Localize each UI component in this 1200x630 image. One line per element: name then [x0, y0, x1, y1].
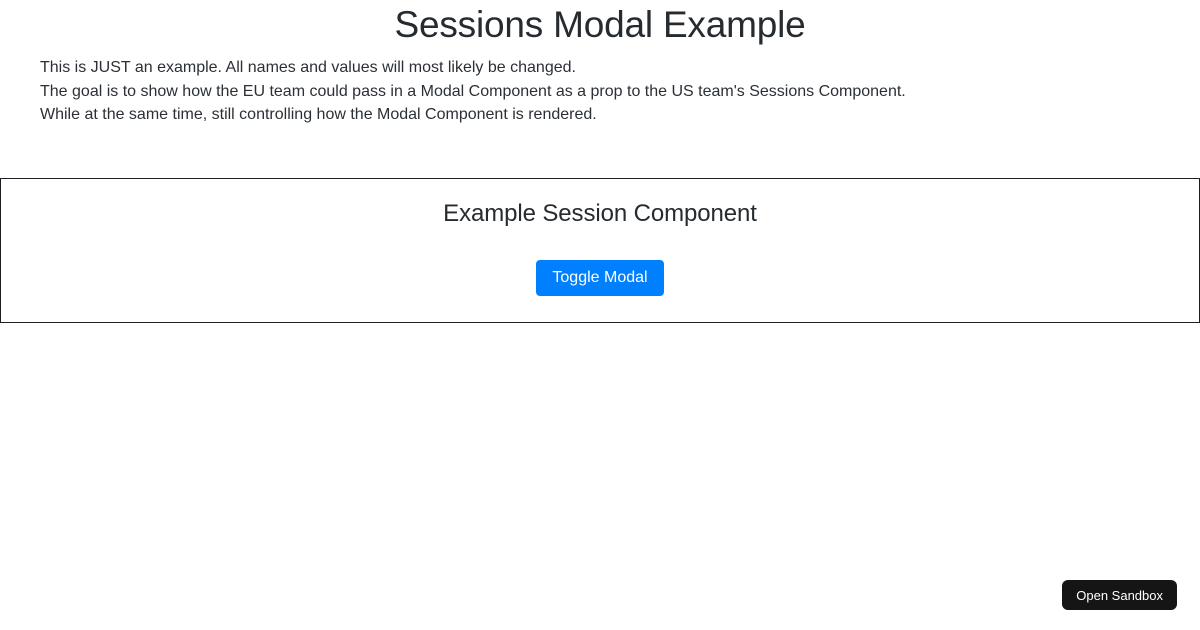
intro-line-2: The goal is to show how the EU team coul…	[40, 80, 1160, 104]
intro-description: This is JUST an example. All names and v…	[0, 50, 1200, 127]
page-root: Sessions Modal Example This is JUST an e…	[0, 0, 1200, 630]
intro-line-1: This is JUST an example. All names and v…	[40, 56, 1160, 80]
page-title: Sessions Modal Example	[0, 0, 1200, 50]
toggle-modal-button-row: Toggle Modal	[1, 260, 1199, 296]
example-session-component-panel: Example Session Component Toggle Modal	[0, 178, 1200, 323]
intro-line-3: While at the same time, still controllin…	[40, 103, 1160, 127]
toggle-modal-button[interactable]: Toggle Modal	[536, 260, 663, 296]
open-sandbox-button[interactable]: Open Sandbox	[1062, 580, 1177, 610]
session-panel-title: Example Session Component	[1, 179, 1199, 229]
